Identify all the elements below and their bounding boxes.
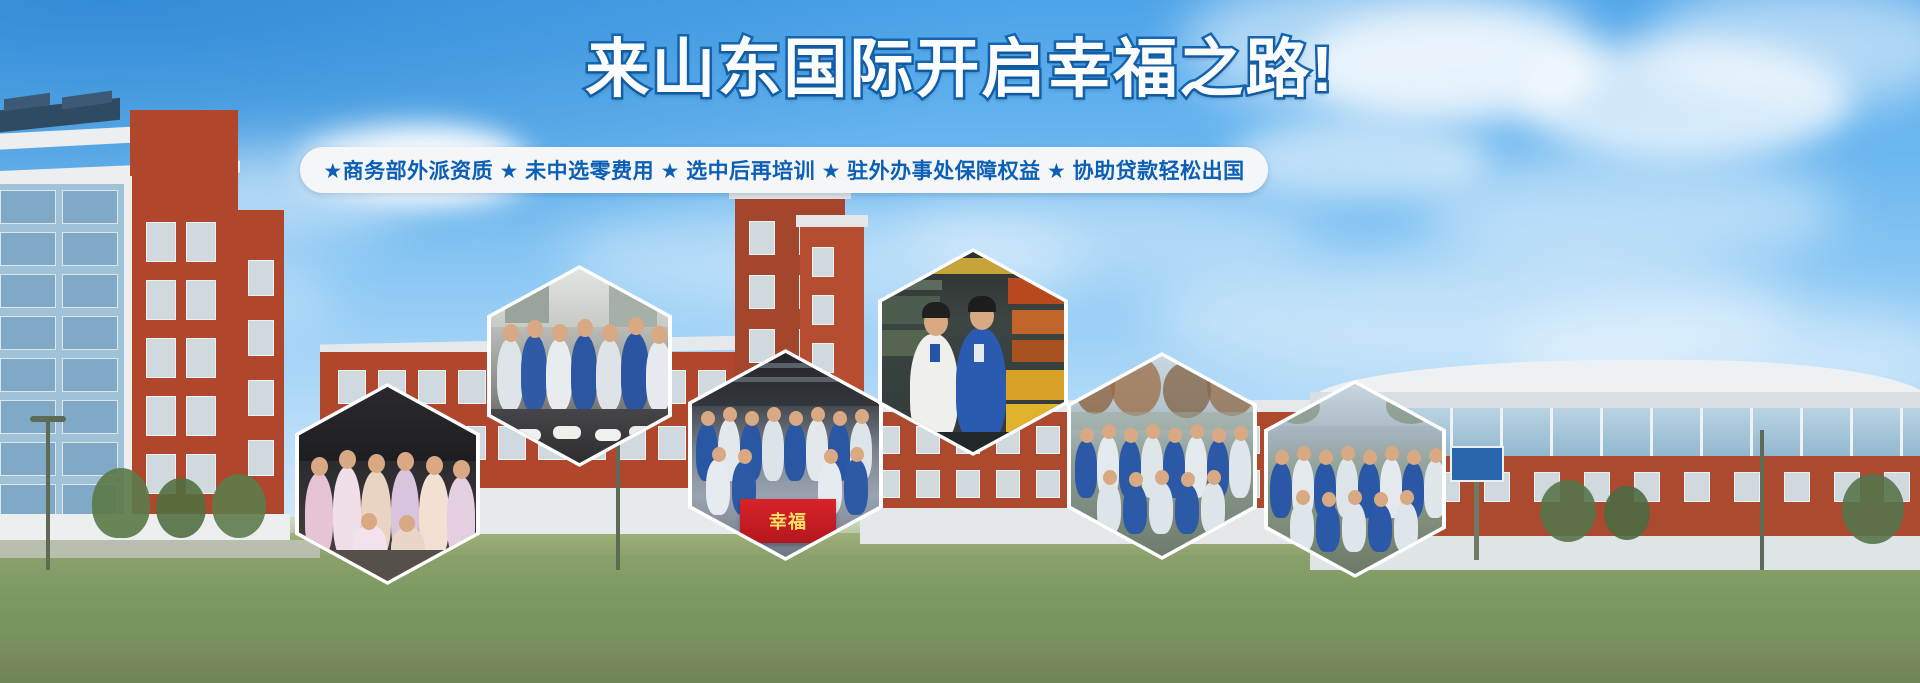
light-pole-left-arm <box>30 416 66 422</box>
light-pole-mid <box>616 440 620 570</box>
feature-pill: ★商务部外派资质 ★ 未中选零费用 ★ 选中后再培训 ★ 驻外办事处保障权益 ★… <box>300 147 1268 193</box>
banner-root: 来山东国际开启幸福之路! ★商务部外派资质 ★ 未中选零费用 ★ 选中后再培训 … <box>0 0 1920 683</box>
light-pole-left <box>46 420 50 570</box>
basketball-hoop-2 <box>1448 446 1518 562</box>
light-pole-right <box>1760 430 1764 570</box>
photo-red-banner: 幸福 <box>740 499 836 543</box>
banner-headline: 来山东国际开启幸福之路! <box>0 34 1920 106</box>
feature-pill-text: ★商务部外派资质 ★ 未中选零费用 ★ 选中后再培训 ★ 驻外办事处保障权益 ★… <box>323 155 1244 185</box>
running-track <box>0 641 1920 683</box>
photo-banner-text: 幸福 <box>769 508 807 534</box>
